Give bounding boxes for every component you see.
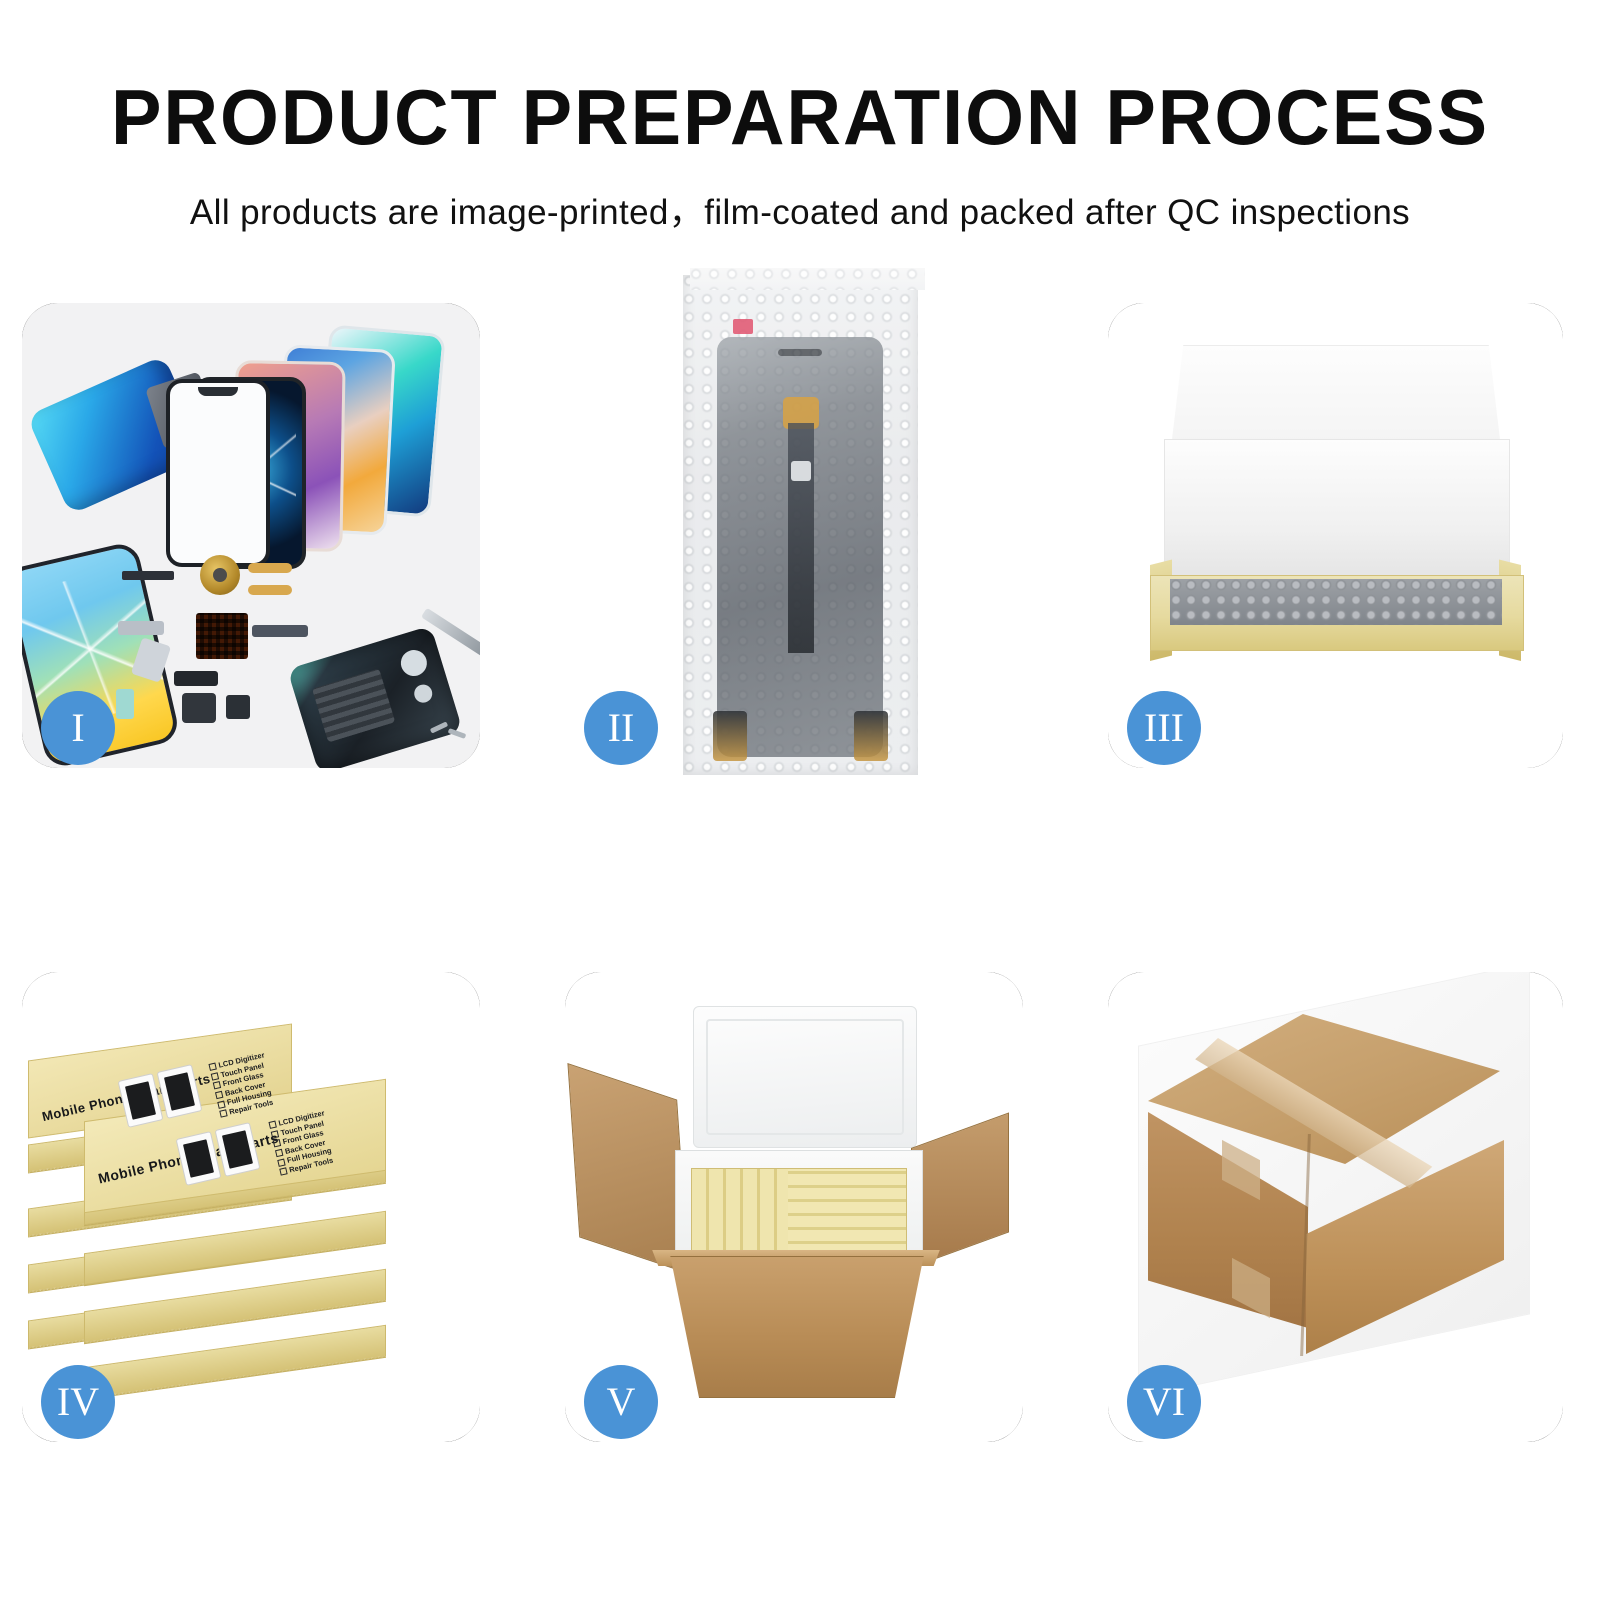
checkbox-icon [215,1091,223,1099]
screen-fan-group [172,325,472,525]
wireless-charging-coil [200,555,240,595]
checkbox-icon [279,1168,287,1176]
box-lid-inner [1164,439,1510,591]
retail-box-stack-scene: Mobile Phone Spare Parts LCD Digitizer T… [22,972,480,1442]
foam-carton-loading-scene [565,972,1023,1442]
carton-flap-right [911,1112,1009,1268]
checkbox-icon [269,1121,277,1129]
connector-right [854,711,888,761]
component-block-3 [226,695,250,719]
speaker-module [122,571,174,580]
carton-body [653,1256,941,1398]
checkbox-icon [271,1130,279,1138]
sealed-shipping-carton-scene [1108,972,1563,1442]
step-1-image [22,303,480,768]
checkbox-icon [211,1072,219,1080]
step-2-image [565,303,1023,768]
flex-cable-1 [248,563,292,573]
step-panel-2[interactable]: II [565,303,1023,768]
bubble-wrap-bag [683,275,918,775]
step-6-image [1108,972,1563,1442]
checkbox-icon [217,1100,225,1108]
checkbox-icon [219,1110,227,1118]
component-block-1 [174,671,218,686]
carton-flap-left [567,1063,689,1274]
qc-label-sticker [733,319,753,334]
checkbox-icon [275,1149,283,1157]
step-panel-1[interactable]: I [22,303,480,768]
driver-chip [791,461,811,481]
checkbox-icon [273,1139,281,1147]
bubble-wrapped-screen-scene [565,303,1023,768]
step-3-image [1108,303,1563,768]
step-panel-5[interactable]: V [565,972,1023,1442]
phone-back-housing [287,625,463,768]
flex-cable-3 [252,625,308,637]
flex-ribbon [788,423,814,653]
screws-group [430,725,474,739]
connector-left [713,711,747,761]
flex-cable-5 [131,637,171,682]
checkbox-icon [209,1063,217,1071]
front-glass-panel [166,379,270,567]
box-stack-group: Mobile Phone Spare Parts LCD Digitizer T… [22,994,480,1424]
inner-box-packing-scene [1108,303,1563,768]
ic-chip [196,613,248,659]
step-5-image [565,972,1023,1442]
component-parts-group [130,549,430,749]
step-panel-4[interactable]: Mobile Phone Spare Parts LCD Digitizer T… [22,972,480,1442]
checkbox-icon [213,1081,221,1089]
step-panel-6[interactable]: VI [1108,972,1563,1442]
retail-boxes-inside [691,1168,907,1256]
step-panel-3[interactable]: III [1108,303,1563,768]
flex-cable-4 [118,621,164,635]
process-steps-grid: I II [0,0,1600,1600]
foam-cooler-lid [693,1006,917,1148]
phone-parts-collage-scene [22,303,480,768]
sim-tray-part [116,689,134,719]
component-block-2 [182,693,216,723]
step-4-image: Mobile Phone Spare Parts LCD Digitizer T… [22,972,480,1442]
checkbox-icon [277,1158,285,1166]
flex-cable-2 [248,585,292,595]
grey-bubble-wrap-fill [1170,579,1502,625]
bubble-wrap-overflow [690,268,925,290]
